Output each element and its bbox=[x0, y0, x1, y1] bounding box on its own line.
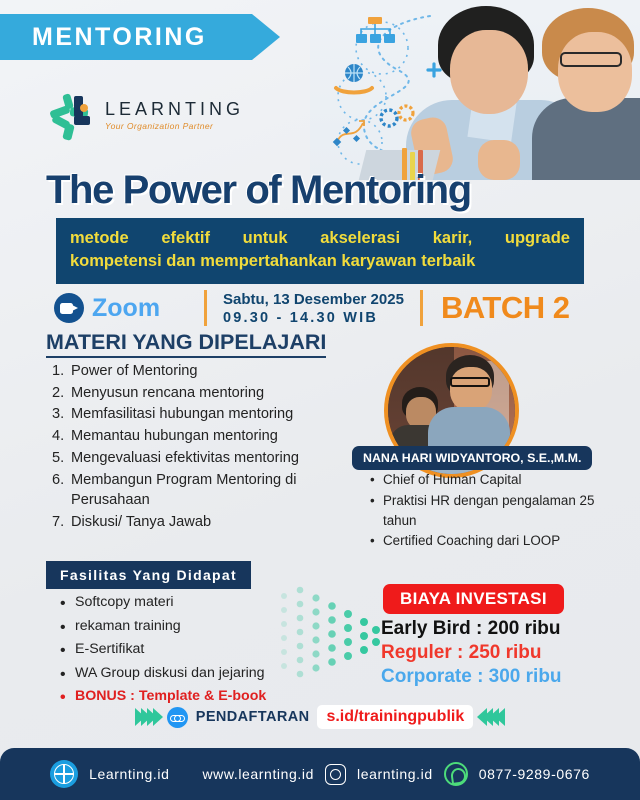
link-icon bbox=[167, 707, 188, 728]
subtitle-line-1: metode efektif untuk akselerasi karir, u… bbox=[70, 227, 570, 250]
logo-name: LEARNTING bbox=[105, 100, 244, 118]
halftone-chevron-decoration bbox=[276, 570, 386, 690]
registration-bar: PENDAFTARAN s.id/trainingpublik bbox=[0, 700, 640, 734]
instagram-icon[interactable] bbox=[325, 764, 346, 785]
list-item: Certified Coaching dari LOOP bbox=[368, 531, 598, 551]
price-corporate: Corporate : 300 ribu bbox=[381, 666, 631, 688]
price-early-bird: Early Bird : 200 ribu bbox=[381, 618, 631, 640]
price-reguler: Reguler : 250 ribu bbox=[381, 642, 631, 664]
flyer-poster: MENTORING LEARNTING Your Organization Pa… bbox=[0, 0, 640, 800]
header-photo bbox=[310, 0, 640, 180]
chevron-right-icons bbox=[135, 708, 159, 726]
list-item: 7.Diskusi/ Tanya Jawab bbox=[52, 512, 352, 533]
org-chart-icon bbox=[354, 16, 396, 48]
page-title: The Power of Mentoring bbox=[46, 168, 606, 213]
list-item: Chief of Human Capital bbox=[368, 470, 598, 490]
list-item: 4.Memantau hubungan mentoring bbox=[52, 426, 352, 447]
registration-url[interactable]: s.id/trainingpublik bbox=[317, 705, 473, 729]
fasilitas-heading: Fasilitas Yang Didapat bbox=[46, 561, 251, 589]
list-item: 3.Memfasilitasi hubungan mentoring bbox=[52, 404, 352, 425]
platform-block: Zoom bbox=[54, 293, 204, 323]
list-item: 6.Membangun Program Mentoring di Perusah… bbox=[52, 470, 352, 511]
batch-label: BATCH 2 bbox=[423, 290, 570, 326]
footer-bar: Learnting.id www.learnting.id learnting.… bbox=[0, 748, 640, 800]
zoom-camera-icon bbox=[54, 293, 84, 323]
speaker-credentials: Chief of Human Capital Praktisi HR denga… bbox=[368, 470, 598, 552]
footer-instagram[interactable]: learnting.id bbox=[357, 766, 433, 782]
eyeglasses-icon bbox=[560, 52, 622, 67]
date-time-block: Sabtu, 13 Desember 2025 09.30 - 14.30 WI… bbox=[207, 291, 420, 326]
subtitle-box: metode efektif untuk akselerasi karir, u… bbox=[56, 218, 584, 284]
registration-label: PENDAFTARAN bbox=[196, 709, 310, 725]
footer-brand: Learnting.id bbox=[89, 766, 169, 782]
list-item: 1.Power of Mentoring bbox=[52, 361, 352, 382]
materi-heading: MATERI YANG DIPELAJARI bbox=[46, 330, 326, 358]
materi-list: 1.Power of Mentoring 2.Menyusun rencana … bbox=[52, 361, 352, 534]
header-banner-label: MENTORING bbox=[0, 23, 207, 52]
brand-logo: LEARNTING Your Organization Partner bbox=[50, 92, 244, 138]
globe-icon bbox=[50, 760, 78, 788]
subtitle-line-2: kompetensi dan mempertahankan karyawan t… bbox=[70, 250, 570, 273]
list-item: 5.Mengevaluasi efektivitas mentoring bbox=[52, 448, 352, 469]
biaya-heading: BIAYA INVESTASI bbox=[383, 584, 564, 614]
speaker-name-badge: NANA HARI WIDYANTORO, S.E.,M.M. bbox=[352, 446, 592, 470]
footer-website[interactable]: www.learnting.id bbox=[202, 766, 314, 782]
platform-label: Zoom bbox=[92, 294, 160, 323]
event-meta-row: Zoom Sabtu, 13 Desember 2025 09.30 - 14.… bbox=[54, 286, 614, 330]
whatsapp-icon[interactable] bbox=[444, 762, 468, 786]
network-nodes-icon bbox=[332, 116, 370, 150]
logo-tagline: Your Organization Partner bbox=[105, 122, 244, 131]
header-banner: MENTORING bbox=[0, 14, 252, 60]
event-time: 09.30 - 14.30 WIB bbox=[223, 310, 404, 326]
chevron-left-icons bbox=[481, 708, 505, 726]
footer-whatsapp[interactable]: 0877-9289-0676 bbox=[479, 766, 590, 782]
logo-mark-icon bbox=[50, 92, 96, 138]
list-item: 2.Menyusun rencana mentoring bbox=[52, 383, 352, 404]
globe-in-hand-icon bbox=[332, 62, 376, 96]
list-item: Praktisi HR dengan pengalaman 25 tahun bbox=[368, 491, 598, 531]
event-date: Sabtu, 13 Desember 2025 bbox=[223, 291, 404, 308]
